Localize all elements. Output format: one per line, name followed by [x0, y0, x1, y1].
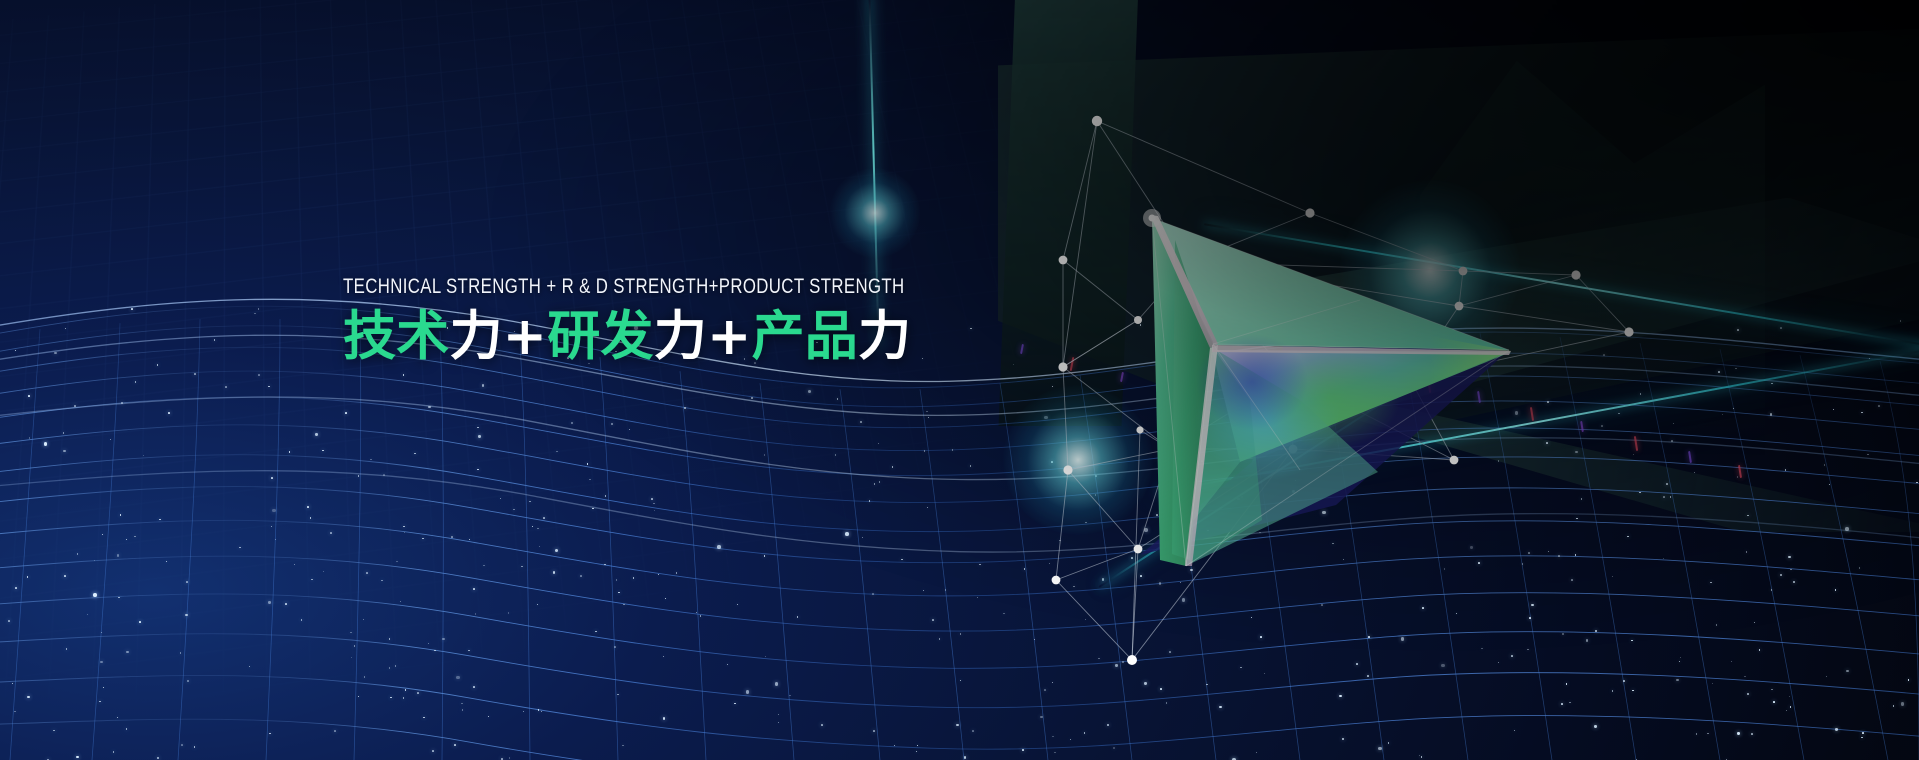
- headline-segment-3: 研发: [547, 306, 653, 367]
- hero-banner: TECHNICAL STRENGTH + R & D STRENGTH+PROD…: [0, 0, 1919, 760]
- headline-segment-6: 产品: [752, 306, 858, 367]
- headline-segment-1: 力: [449, 306, 502, 367]
- banner-headline: 技术力+研发力+产品力: [343, 310, 1103, 363]
- headline-segment-0: 技术: [343, 306, 449, 367]
- headline-segment-7: 力: [858, 306, 911, 367]
- hero-copy: TECHNICAL STRENGTH + R & D STRENGTH+PROD…: [343, 276, 1103, 363]
- banner-subtitle: TECHNICAL STRENGTH + R & D STRENGTH+PROD…: [343, 276, 951, 297]
- headline-segment-5: +: [707, 306, 752, 367]
- background-vignette: [0, 0, 1919, 760]
- headline-segment-2: +: [503, 306, 548, 367]
- headline-segment-4: 力: [654, 306, 707, 367]
